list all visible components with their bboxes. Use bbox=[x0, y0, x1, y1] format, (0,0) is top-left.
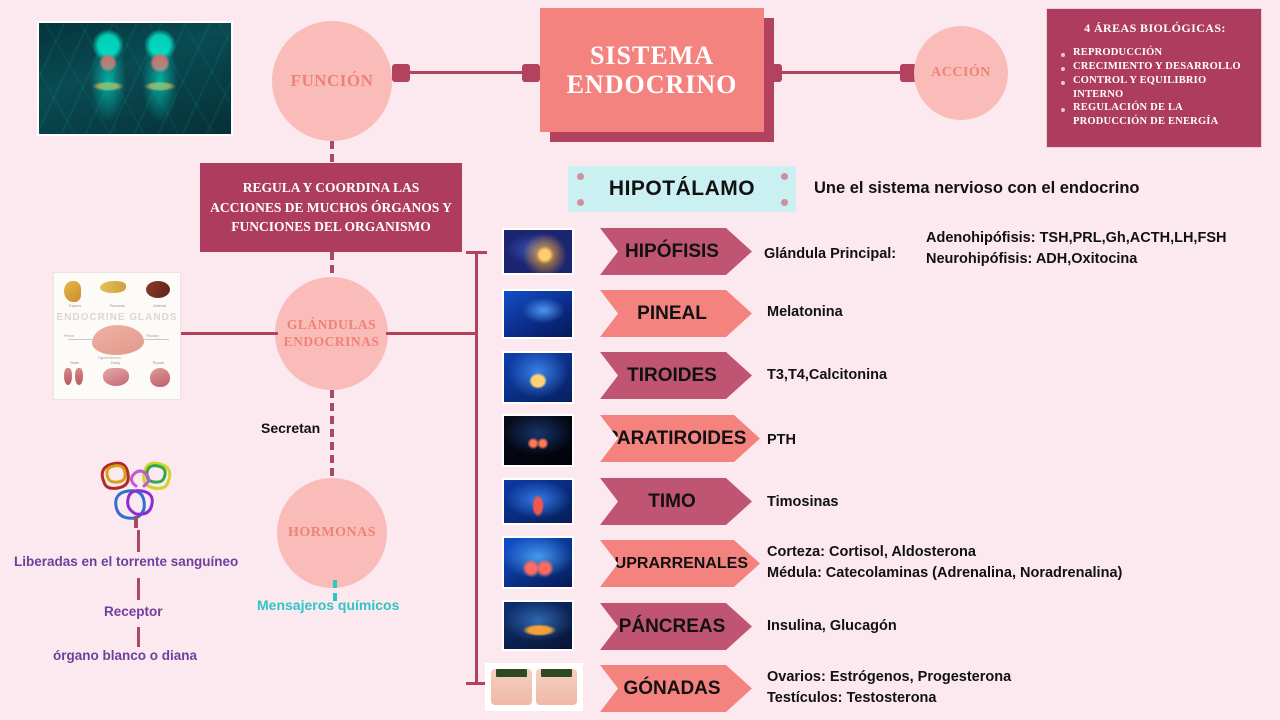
gland-bracket-bottom-cap bbox=[466, 682, 487, 685]
hipotalamo-dot-bl bbox=[577, 199, 584, 206]
areas-list: REPRODUCCIÓN CRECIMIENTO Y DESARROLLO CO… bbox=[1059, 46, 1251, 129]
connector-protein-to-liberadas bbox=[137, 530, 140, 552]
gonads-label-bar-right bbox=[541, 669, 572, 677]
thumb-pancreas-scan bbox=[502, 600, 574, 651]
thumb-thyroid-scan bbox=[502, 351, 574, 404]
gland-chevron-timo[interactable]: TIMO bbox=[600, 478, 752, 525]
hipotalamo-label: HIPOTÁLAMO bbox=[609, 177, 755, 201]
gland-chevron-paratiroides[interactable]: PARATIROIDES bbox=[600, 415, 760, 462]
label-mensajeros-quimicos: Mensajeros químicos bbox=[257, 597, 399, 613]
gonads-label-bar-left bbox=[496, 669, 527, 677]
protein-ribbon-icon bbox=[90, 452, 182, 528]
gland-detail-line: Adenohipófisis: TSH,PRL,Gh,ACTH,LH,FSH bbox=[926, 228, 1226, 249]
gland-name-pancreas: PÁNCREAS bbox=[611, 616, 742, 638]
connector-title-to-accion bbox=[768, 71, 916, 74]
thumb-parathyroid-scan bbox=[502, 414, 574, 467]
node-accion[interactable]: ACCIÓN bbox=[914, 26, 1008, 120]
areas-title: 4 ÁREAS BIOLÓGICAS: bbox=[1059, 21, 1251, 36]
gland-detail-line: Timosinas bbox=[767, 492, 838, 513]
gland-bracket-top-cap bbox=[466, 251, 487, 254]
gland-name-tiroides: TIROIDES bbox=[619, 365, 733, 387]
gland-detail-timo: Timosinas bbox=[767, 492, 838, 513]
gland-detail-line: Melatonina bbox=[767, 302, 843, 323]
human-bodies-anatomy-photo bbox=[37, 21, 233, 136]
gland-detail-line: Insulina, Glucagón bbox=[767, 616, 897, 637]
hipotalamo-description: Une el sistema nervioso con el endocrino bbox=[814, 177, 1140, 201]
node-hormonas[interactable]: HORMONAS bbox=[277, 478, 387, 588]
thumb-brain-scan bbox=[502, 289, 574, 339]
areas-biologicas-box: 4 ÁREAS BIOLÓGICAS: REPRODUCCIÓN CRECIMI… bbox=[1046, 8, 1262, 148]
funcion-description-text: REGULA Y COORDINA LAS ACCIONES DE MUCHOS… bbox=[208, 178, 454, 237]
gland-name-suprarrenales: SUPRARRENALES bbox=[596, 555, 764, 573]
label-receptor: Receptor bbox=[104, 604, 163, 619]
area-item: REGULACIÓN DE LA PRODUCCIÓN DE ENERGÍA bbox=[1059, 101, 1251, 129]
infographic-canvas: FUNCIÓN SISTEMA ENDOCRINO ACCIÓN 4 ÁREAS… bbox=[0, 0, 1280, 720]
thumb-adrenal-scan bbox=[502, 536, 574, 589]
gland-detail-line: Corteza: Cortisol, Aldosterona bbox=[767, 542, 1122, 563]
thumb-thymus-scan bbox=[502, 478, 574, 525]
label-liberadas-torrente: Liberadas en el torrente sanguíneo bbox=[14, 554, 238, 569]
gland-name-hipofisis: HIPÓFISIS bbox=[617, 241, 735, 263]
connector-liberadas-to-receptor bbox=[137, 578, 140, 600]
gland-detail-line: Testículos: Testosterona bbox=[767, 688, 1011, 709]
gland-detail-line: PTH bbox=[767, 430, 796, 451]
gland-chevron-tiroides[interactable]: TIROIDES bbox=[600, 352, 752, 399]
hipotalamo-dot-br bbox=[781, 199, 788, 206]
gland-detail-paratiroides: PTH bbox=[767, 430, 796, 451]
gland-detail-line: Médula: Catecolaminas (Adrenalina, Norad… bbox=[767, 563, 1122, 584]
node-glandulas-line1: GLÁNDULAS bbox=[284, 317, 380, 334]
gland-prefix-hipofisis: Glándula Principal: bbox=[764, 244, 896, 265]
connector-node-to-bracket bbox=[386, 332, 478, 335]
gland-detail-line: Neurohipófisis: ADH,Oxitocina bbox=[926, 249, 1226, 270]
label-organo-blanco: órgano blanco o diana bbox=[53, 648, 197, 663]
gland-name-pineal: PINEAL bbox=[629, 303, 723, 325]
connector-knob-funcion bbox=[392, 64, 410, 82]
endocrine-glands-chart: ThymusPancreasAdrenal ENDOCRINE GLANDS P… bbox=[53, 272, 181, 400]
hipotalamo-dot-tl bbox=[577, 173, 584, 180]
gland-chevron-hipofisis[interactable]: HIPÓFISIS bbox=[600, 228, 752, 275]
gland-chevron-pancreas[interactable]: PÁNCREAS bbox=[600, 603, 752, 650]
area-item: CRECIMIENTO Y DESARROLLO bbox=[1059, 60, 1251, 74]
gland-name-gonadas: GÓNADAS bbox=[615, 678, 736, 700]
area-item: CONTROL Y EQUILIBRIO INTERNO bbox=[1059, 74, 1251, 102]
node-accion-label: ACCIÓN bbox=[931, 65, 991, 81]
gland-detail-line: Ovarios: Estrógenos, Progesterona bbox=[767, 667, 1011, 688]
gland-detail-pancreas: Insulina, Glucagón bbox=[767, 616, 897, 637]
hormone-protein-structure bbox=[90, 452, 182, 528]
connector-knob-title-right bbox=[764, 64, 782, 82]
dashed-glandulas-to-hormonas bbox=[330, 390, 334, 478]
node-hormonas-label: HORMONAS bbox=[288, 525, 376, 541]
connector-knob-title-left bbox=[522, 64, 540, 82]
connector-receptor-to-organo bbox=[137, 627, 140, 647]
dashed-funcion-to-description bbox=[330, 141, 334, 163]
gland-detail-hipofisis: Adenohipófisis: TSH,PRL,Gh,ACTH,LH,FSH N… bbox=[926, 228, 1226, 270]
funcion-description-box: REGULA Y COORDINA LAS ACCIONES DE MUCHOS… bbox=[200, 163, 462, 252]
node-funcion-label: FUNCIÓN bbox=[291, 71, 374, 91]
hipotalamo-box[interactable]: HIPOTÁLAMO bbox=[568, 166, 796, 212]
thumb-pituitary-scan bbox=[502, 228, 574, 275]
area-item: REPRODUCCIÓN bbox=[1059, 46, 1251, 60]
gland-name-paratiroides: PARATIROIDES bbox=[598, 428, 763, 450]
gland-detail-suprarrenales: Corteza: Cortisol, Aldosterona Médula: C… bbox=[767, 542, 1122, 584]
connector-funcion-to-title bbox=[398, 71, 538, 74]
node-glandulas-line2: ENDOCRINAS bbox=[284, 334, 380, 351]
glands-chart-title: ENDOCRINE GLANDS bbox=[54, 312, 180, 323]
gland-chevron-pineal[interactable]: PINEAL bbox=[600, 290, 752, 337]
main-title-box: SISTEMA ENDOCRINO bbox=[540, 8, 764, 132]
node-glandulas-endocrinas[interactable]: GLÁNDULAS ENDOCRINAS bbox=[275, 277, 388, 390]
label-secretan: Secretan bbox=[261, 420, 320, 436]
gland-chevron-suprarrenales[interactable]: SUPRARRENALES bbox=[600, 540, 760, 587]
gland-bracket-vertical bbox=[475, 252, 478, 684]
gland-detail-tiroides: T3,T4,Calcitonina bbox=[767, 365, 887, 386]
gland-name-timo: TIMO bbox=[640, 491, 712, 513]
thumb-gonads-diagram bbox=[485, 663, 583, 711]
gland-detail-pineal: Melatonina bbox=[767, 302, 843, 323]
main-title-line2: ENDOCRINO bbox=[567, 70, 738, 99]
node-funcion[interactable]: FUNCIÓN bbox=[272, 21, 392, 141]
connector-glandschart-to-node bbox=[176, 332, 278, 335]
gland-detail-gonadas: Ovarios: Estrógenos, Progesterona Testíc… bbox=[767, 667, 1011, 709]
gland-detail-line: T3,T4,Calcitonina bbox=[767, 365, 887, 386]
gland-chevron-gonadas[interactable]: GÓNADAS bbox=[600, 665, 752, 712]
hipotalamo-dot-tr bbox=[781, 173, 788, 180]
main-title-line1: SISTEMA bbox=[567, 41, 738, 70]
